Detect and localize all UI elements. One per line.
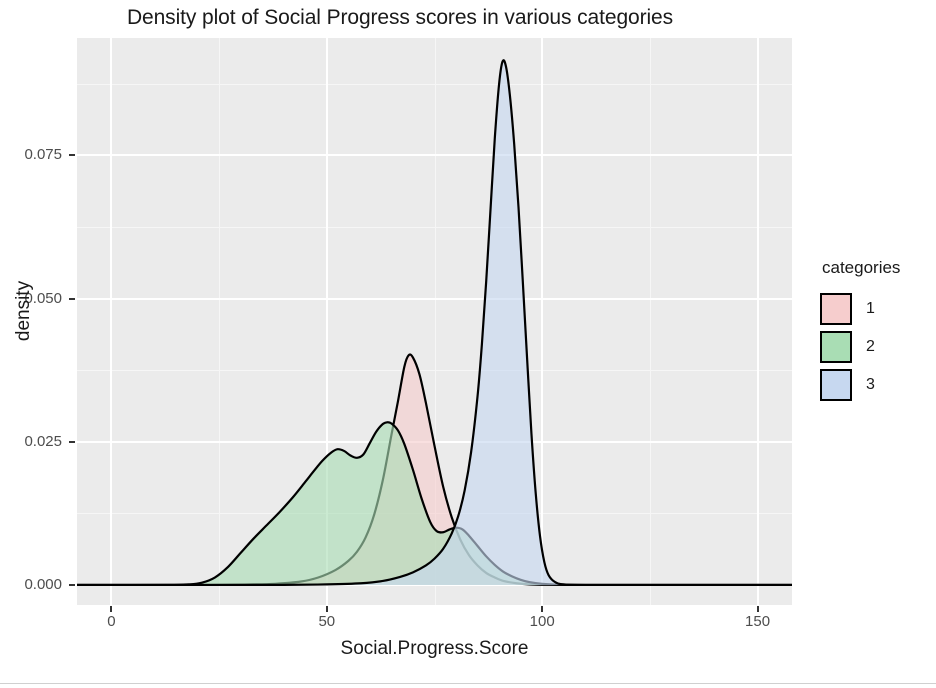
legend: categories 123 [820,258,930,404]
y-tick-label: 0.075 [0,146,62,163]
legend-label: 3 [866,376,875,394]
legend-swatch-1 [820,293,852,325]
legend-swatch-2 [820,331,852,363]
plot-panel [77,38,792,605]
x-tick-label: 100 [512,613,572,630]
legend-items: 123 [820,290,930,404]
y-tick-mark [69,154,75,156]
legend-label: 2 [866,338,875,356]
legend-swatch-3 [820,369,852,401]
page-title: Density plot of Social Progress scores i… [0,6,800,30]
legend-item-1[interactable]: 1 [820,290,930,328]
bottom-divider [0,683,936,684]
y-tick-mark [69,298,75,300]
x-tick-label: 150 [728,613,788,630]
x-tick-label: 50 [297,613,357,630]
y-tick-label: 0.000 [0,576,62,593]
density-curves [77,38,792,605]
legend-item-3[interactable]: 3 [820,366,930,404]
x-tick-mark [110,606,112,612]
legend-item-2[interactable]: 2 [820,328,930,366]
y-tick-mark [69,584,75,586]
x-axis-title: Social.Progress.Score [77,638,792,660]
density-plot-figure: Density plot of Social Progress scores i… [0,0,936,684]
y-axis-title: density [13,221,35,401]
legend-title: categories [822,258,930,278]
x-tick-mark [326,606,328,612]
legend-label: 1 [866,300,875,318]
y-tick-label: 0.025 [0,433,62,450]
x-tick-label: 0 [81,613,141,630]
y-tick-mark [69,441,75,443]
x-tick-mark [757,606,759,612]
x-tick-mark [541,606,543,612]
